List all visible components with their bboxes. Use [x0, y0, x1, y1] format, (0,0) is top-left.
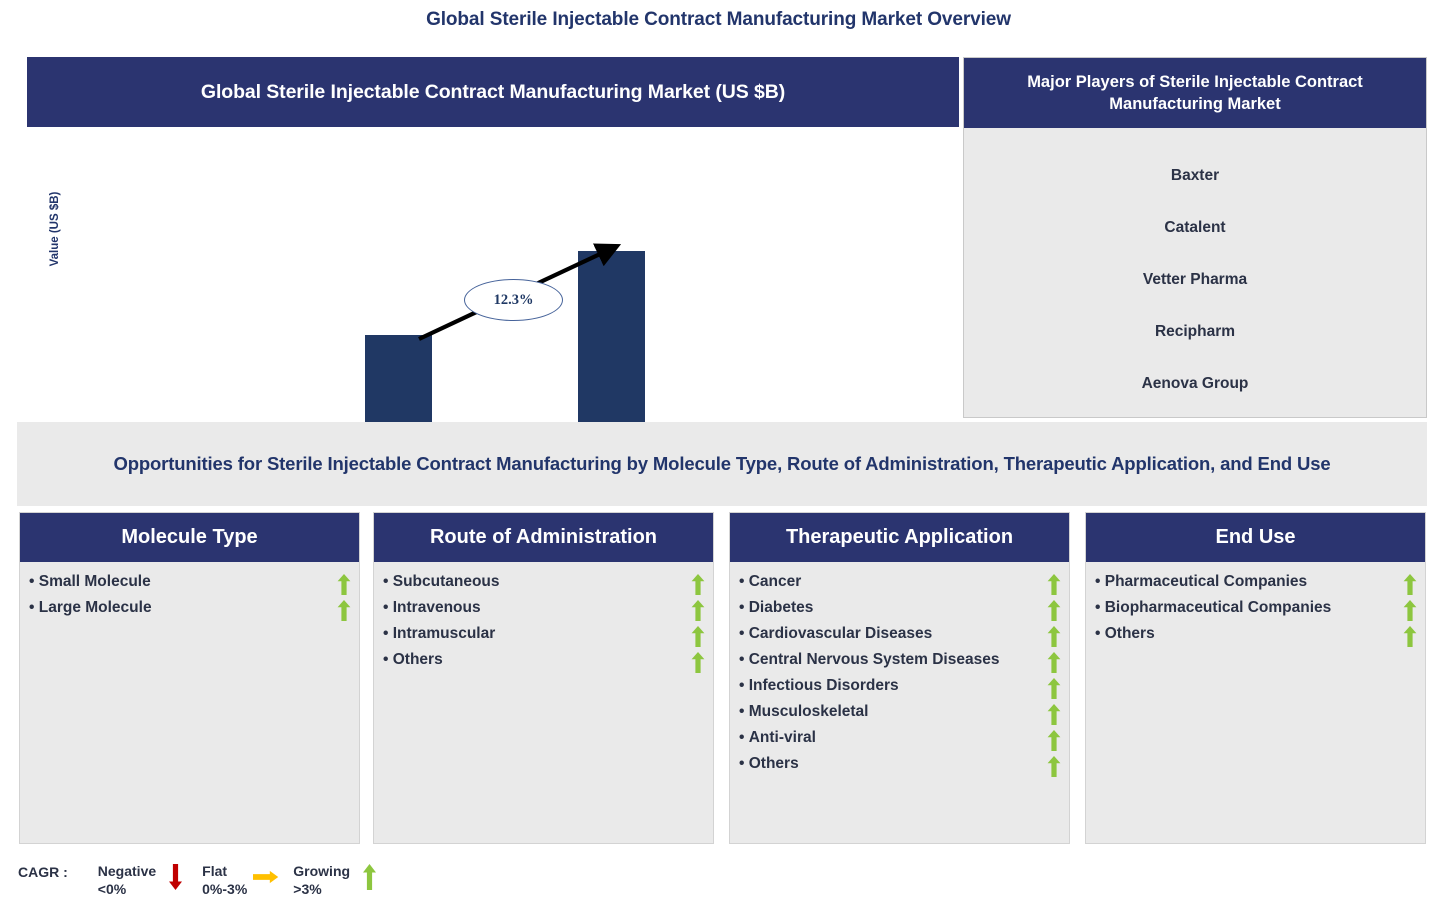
list-item: Vetter Pharma [964, 254, 1426, 306]
cagr-legend: CAGR : Negative <0% Flat 0%-3% Growing >… [18, 862, 396, 898]
category-header: End Use [1086, 513, 1425, 562]
list-item-label: Diabetes [739, 598, 821, 618]
list-item-label: Musculoskeletal [739, 702, 876, 722]
arrow-up-icon [691, 600, 705, 621]
list-item-label: Pharmaceutical Companies [1095, 572, 1315, 592]
category-column-molecule-type: Molecule Type Small Molecule Large Molec… [19, 512, 360, 844]
major-players-title: Major Players of Sterile Injectable Cont… [978, 71, 1412, 116]
chart-panel-header: Global Sterile Injectable Contract Manuf… [27, 57, 959, 127]
list-item: Anti-viral [739, 728, 1061, 751]
category-title: Route of Administration [430, 526, 657, 549]
legend-entry-text: Growing >3% [293, 862, 350, 898]
arrow-up-icon [1047, 600, 1061, 621]
list-item-label: Biopharmaceutical Companies [1095, 598, 1339, 618]
legend-entry-name: Negative [98, 862, 156, 880]
list-item: Subcutaneous [383, 572, 705, 595]
opportunities-band: Opportunities for Sterile Injectable Con… [17, 422, 1427, 506]
legend-entry-negative: Negative <0% [98, 862, 188, 898]
list-item-label: Cardiovascular Diseases [739, 624, 940, 644]
list-item-label: Anti-viral [739, 728, 824, 748]
cagr-callout-bubble: 12.3% [464, 279, 563, 321]
arrow-up-icon [691, 574, 705, 595]
arrow-right-icon [253, 867, 279, 887]
list-item: Pharmaceutical Companies [1095, 572, 1417, 595]
major-players-panel: Major Players of Sterile Injectable Cont… [963, 57, 1427, 418]
major-players-header: Major Players of Sterile Injectable Cont… [964, 58, 1426, 128]
list-item: Aenova Group [964, 358, 1426, 410]
list-item: Others [739, 754, 1061, 777]
category-header: Molecule Type [20, 513, 359, 562]
list-item: Musculoskeletal [739, 702, 1061, 725]
arrow-up-icon [1047, 574, 1061, 595]
category-column-therapeutic-application: Therapeutic Application Cancer Diabetes … [729, 512, 1070, 844]
cagr-legend-title: CAGR : [18, 862, 68, 880]
chart-panel-title: Global Sterile Injectable Contract Manuf… [201, 81, 785, 104]
list-item: Recipharm [964, 306, 1426, 358]
page-title: Global Sterile Injectable Contract Manuf… [0, 9, 1437, 31]
arrow-up-icon [1047, 678, 1061, 699]
market-chart-panel: Global Sterile Injectable Contract Manuf… [27, 57, 959, 418]
cagr-value: 12.3% [494, 292, 534, 309]
category-header: Therapeutic Application [730, 513, 1069, 562]
arrow-up-icon [1403, 600, 1417, 621]
category-column-route-of-administration: Route of Administration Subcutaneous Int… [373, 512, 714, 844]
arrow-up-icon [1403, 626, 1417, 647]
list-item: Others [1095, 624, 1417, 647]
list-item: Baxter [964, 150, 1426, 202]
list-item: Diabetes [739, 598, 1061, 621]
list-item-label: Others [383, 650, 451, 670]
category-item-list: Pharmaceutical Companies Biopharmaceutic… [1086, 562, 1425, 647]
list-item: Intravenous [383, 598, 705, 621]
arrow-up-icon [1047, 704, 1061, 725]
list-item: Cardiovascular Diseases [739, 624, 1061, 647]
arrow-up-icon [691, 652, 705, 673]
category-item-list: Subcutaneous Intravenous Intramuscular O… [374, 562, 713, 673]
list-item: Large Molecule [29, 598, 351, 621]
legend-entry-text: Flat 0%-3% [202, 862, 247, 898]
list-item-label: Others [1095, 624, 1163, 644]
arrow-up-icon [362, 864, 377, 890]
list-item-label: Intravenous [383, 598, 489, 618]
legend-entry-growing: Growing >3% [293, 862, 382, 898]
opportunities-title: Opportunities for Sterile Injectable Con… [57, 451, 1387, 478]
list-item-label: Others [739, 754, 807, 774]
list-item: Catalent [964, 202, 1426, 254]
arrow-down-icon [168, 864, 183, 890]
list-item: Intramuscular [383, 624, 705, 647]
category-title: End Use [1215, 526, 1295, 549]
arrow-up-icon [1047, 652, 1061, 673]
list-item: Infectious Disorders [739, 676, 1061, 699]
category-title: Molecule Type [121, 526, 257, 549]
arrow-up-icon [1403, 574, 1417, 595]
arrow-up-icon [1047, 730, 1061, 751]
list-item: Biopharmaceutical Companies [1095, 598, 1417, 621]
list-item-label: Central Nervous System Diseases [739, 650, 1007, 670]
list-item-label: Large Molecule [29, 598, 160, 618]
list-item-label: Intramuscular [383, 624, 503, 644]
list-item-label: Cancer [739, 572, 809, 592]
arrow-up-icon-wrapper [356, 862, 382, 892]
list-item-label: Subcutaneous [383, 572, 508, 592]
arrow-up-icon [691, 626, 705, 647]
list-item: Others [383, 650, 705, 673]
list-item: Small Molecule [29, 572, 351, 595]
list-item: Central Nervous System Diseases [739, 650, 1061, 673]
category-column-end-use: End Use Pharmaceutical Companies Biophar… [1085, 512, 1426, 844]
list-item-label: Small Molecule [29, 572, 159, 592]
legend-entry-name: Flat [202, 862, 247, 880]
chart-y-axis-label: Value (US $B) [49, 174, 61, 284]
major-players-list: Baxter Catalent Vetter Pharma Recipharm … [964, 128, 1426, 410]
legend-entry-text: Negative <0% [98, 862, 156, 898]
category-item-list: Cancer Diabetes Cardiovascular Diseases … [730, 562, 1069, 777]
arrow-up-icon [1047, 756, 1061, 777]
arrow-up-icon [1047, 626, 1061, 647]
category-item-list: Small Molecule Large Molecule [20, 562, 359, 621]
list-item-label: Infectious Disorders [739, 676, 907, 696]
category-title: Therapeutic Application [786, 526, 1013, 549]
arrow-down-icon-wrapper [162, 862, 188, 892]
arrow-up-icon [337, 574, 351, 595]
legend-entry-name: Growing [293, 862, 350, 880]
legend-entry-range: 0%-3% [202, 880, 247, 898]
category-header: Route of Administration [374, 513, 713, 562]
list-item: Cancer [739, 572, 1061, 595]
legend-entry-flat: Flat 0%-3% [202, 862, 279, 898]
chart-plot-area: Value (US $B) 2025 2031 12.3% Source : L… [27, 127, 959, 418]
legend-entry-range: >3% [293, 880, 350, 898]
arrow-right-icon-wrapper [253, 862, 279, 892]
arrow-up-icon [337, 600, 351, 621]
legend-entry-range: <0% [98, 880, 156, 898]
